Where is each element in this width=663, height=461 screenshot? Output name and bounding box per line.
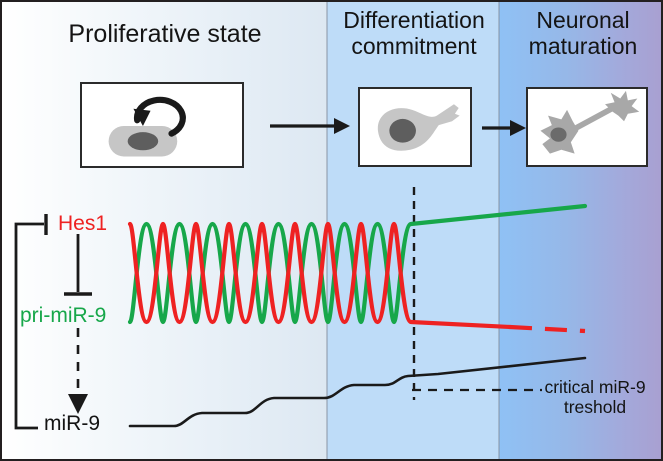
cell-illustration-proliferative xyxy=(80,82,244,168)
differentiating-cell-icon xyxy=(360,89,470,165)
stage-title-commitment: Differentiation commitment xyxy=(334,8,494,60)
flow-arrow-2 xyxy=(480,116,528,140)
edge-mir9-inhibits-hes1 xyxy=(16,214,46,428)
figure-root: Proliferative state Differentiation comm… xyxy=(0,0,663,461)
stage-title-proliferative: Proliferative state xyxy=(30,20,300,48)
critical-threshold-label-line2: treshold xyxy=(526,397,663,417)
flow-arrow-1 xyxy=(268,114,352,138)
cell-illustration-maturation xyxy=(526,87,648,167)
cell-illustration-commitment xyxy=(358,87,472,167)
stage-title-maturation-line2: maturation xyxy=(505,34,661,60)
stage-background-commitment xyxy=(327,2,499,459)
mature-neuron-pair-icon xyxy=(528,89,646,165)
stage-title-maturation-line1: Neuronal xyxy=(505,8,661,34)
stage-title-commitment-line2: commitment xyxy=(334,34,494,60)
regulatory-network-edges: miR-9 (dashed) --> xyxy=(2,188,147,453)
stage-title-maturation: Neuronal maturation xyxy=(505,8,661,60)
proliferating-progenitor-cell-icon xyxy=(82,84,242,166)
stage-title-commitment-line1: Differentiation xyxy=(334,8,494,34)
edge-hes1-inhibits-primir9 xyxy=(64,234,92,294)
edge-primir9-activates-mir9 xyxy=(68,328,88,414)
stage-divider-1 xyxy=(326,2,328,459)
critical-threshold-label: critical miR-9 treshold xyxy=(526,377,663,417)
critical-threshold-label-line1: critical miR-9 xyxy=(526,377,663,397)
stage-divider-2 xyxy=(498,2,500,459)
